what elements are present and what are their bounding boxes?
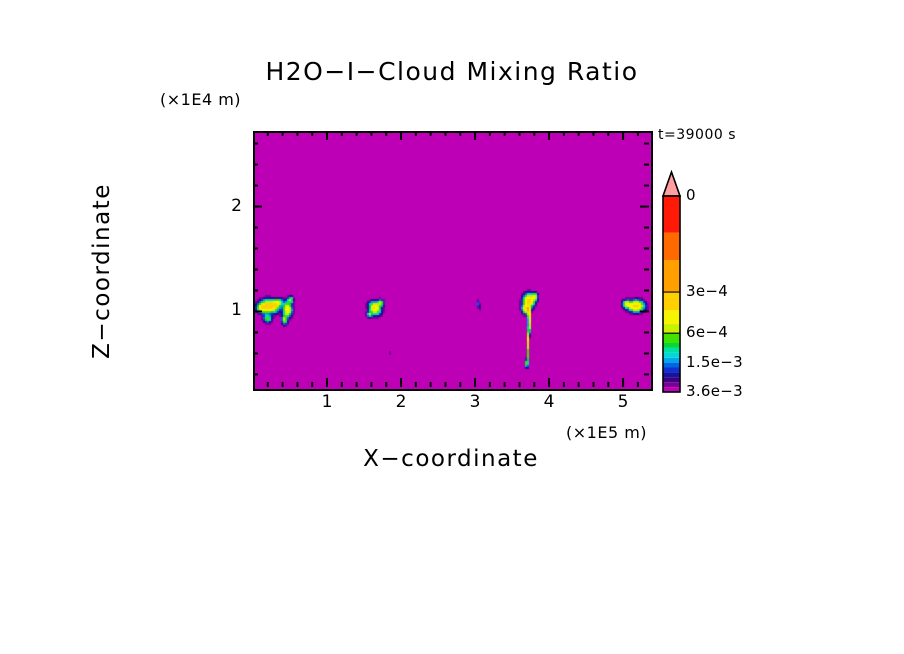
colorbar-band	[663, 233, 680, 260]
x-tick-label: 3	[460, 392, 490, 412]
colorbar-band	[663, 368, 680, 373]
page-title: H2O−I−Cloud Mixing Ratio	[0, 57, 904, 86]
y-axis-units-label: (×1E4 m)	[160, 90, 241, 109]
colorbar	[660, 170, 684, 396]
colorbar-swatches	[660, 170, 684, 396]
figure-canvas: H2O−I−Cloud Mixing Ratio (×1E4 m) t=3900…	[0, 0, 904, 654]
y-tick-label: 2	[212, 196, 242, 216]
x-axis-units-label: (×1E5 m)	[566, 423, 647, 442]
colorbar-band	[663, 353, 680, 358]
colorbar-band	[663, 358, 680, 363]
x-tick-label: 2	[386, 392, 416, 412]
colorbar-tick-label: 6e−4	[686, 323, 728, 341]
colorbar-band	[663, 377, 680, 382]
x-tick-label: 5	[608, 392, 638, 412]
colorbar-band	[663, 372, 680, 377]
contour-field	[255, 133, 651, 389]
colorbar-band	[663, 260, 680, 292]
colorbar-band	[663, 324, 680, 333]
colorbar-tick-label: 3.6e−3	[686, 382, 743, 400]
x-tick-label: 1	[312, 392, 342, 412]
colorbar-band	[663, 196, 680, 233]
colorbar-band	[663, 343, 680, 348]
x-axis-label: X−coordinate	[253, 446, 649, 472]
colorbar-band	[663, 310, 680, 324]
colorbar-band	[663, 363, 680, 368]
colorbar-tick-label: 1.5e−3	[686, 353, 743, 371]
x-tick-label: 4	[534, 392, 564, 412]
colorbar-band	[663, 333, 680, 343]
colorbar-tick-label: 0	[686, 186, 696, 204]
colorbar-band	[663, 292, 680, 310]
colorbar-band	[663, 348, 680, 353]
colorbar-tick-label: 3e−4	[686, 282, 728, 300]
colorbar-arrow-max	[663, 172, 680, 196]
y-axis-label: Z−coordinate	[89, 131, 115, 411]
colorbar-band	[663, 382, 680, 387]
time-annotation: t=39000 s	[658, 127, 736, 143]
plot-area	[253, 131, 653, 391]
y-tick-label: 1	[212, 300, 242, 320]
